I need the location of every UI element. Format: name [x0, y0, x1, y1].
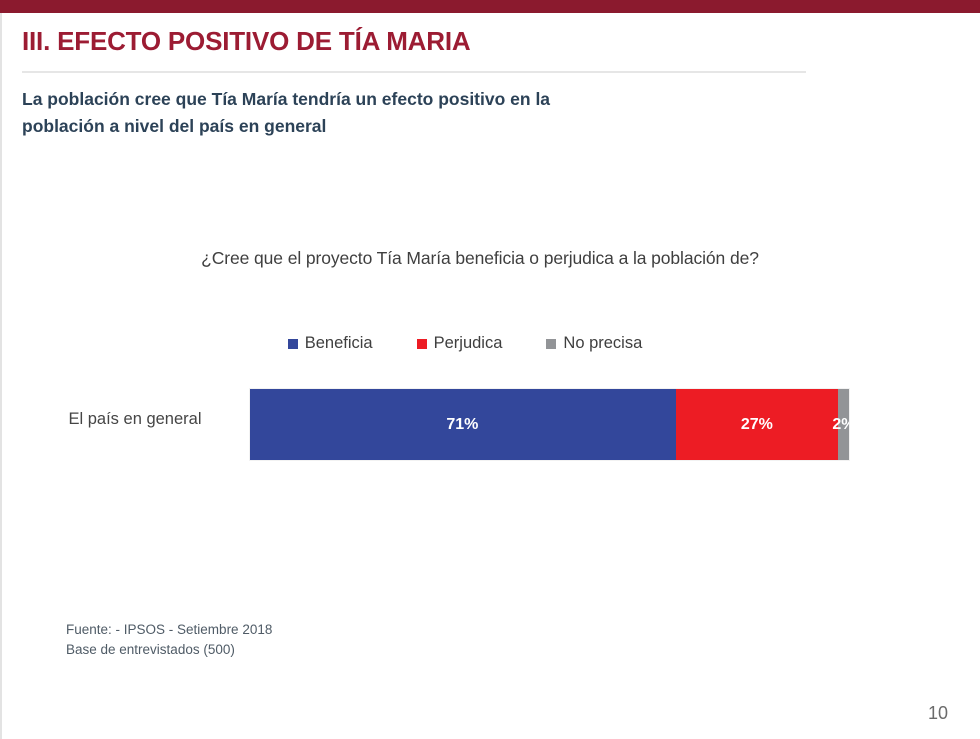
category-label-el-pais-en-general: El país en general [35, 410, 235, 429]
legend-item-beneficia[interactable]: Beneficia [288, 334, 373, 353]
source-line-1: Fuente: - IPSOS - Setiembre 2018 [66, 620, 272, 640]
legend-label-beneficia: Beneficia [305, 334, 373, 353]
legend-label-no-precisa: No precisa [563, 334, 642, 353]
chart-title: ¿Cree que el proyecto Tía María benefici… [0, 248, 960, 269]
title-divider [22, 71, 806, 73]
chart-plot-area: El país en general 71% 27% 2% [0, 380, 980, 475]
source-line-2: Base de entrevistados (500) [66, 640, 272, 660]
bar-segment-no-precisa[interactable]: 2% [838, 388, 850, 461]
page-title: III. EFECTO POSITIVO DE TÍA MARIA [22, 26, 470, 57]
chart-legend: Beneficia Perjudica No precisa [0, 334, 930, 353]
bar-segment-beneficia[interactable]: 71% [249, 388, 676, 461]
legend-item-perjudica[interactable]: Perjudica [417, 334, 503, 353]
slide-top-accent-bar [0, 0, 980, 13]
source-note: Fuente: - IPSOS - Setiembre 2018 Base de… [66, 620, 272, 660]
page-number: 10 [928, 703, 948, 724]
stacked-bar-row: 71% 27% 2% [249, 388, 850, 461]
bar-value-beneficia: 71% [446, 416, 478, 434]
legend-swatch-no-precisa [546, 339, 556, 349]
chart: ¿Cree que el proyecto Tía María benefici… [0, 230, 980, 560]
slide-subtitle: La población cree que Tía María tendría … [22, 86, 742, 140]
legend-swatch-perjudica [417, 339, 427, 349]
subtitle-line-2: población a nivel del país en general [22, 113, 742, 140]
subtitle-line-1: La población cree que Tía María tendría … [22, 86, 742, 113]
legend-item-no-precisa[interactable]: No precisa [546, 334, 642, 353]
bar-segment-perjudica[interactable]: 27% [676, 388, 838, 461]
legend-swatch-beneficia [288, 339, 298, 349]
slide-canvas: III. EFECTO POSITIVO DE TÍA MARIA La pob… [0, 0, 980, 739]
legend-label-perjudica: Perjudica [434, 334, 503, 353]
bar-value-perjudica: 27% [741, 416, 773, 434]
